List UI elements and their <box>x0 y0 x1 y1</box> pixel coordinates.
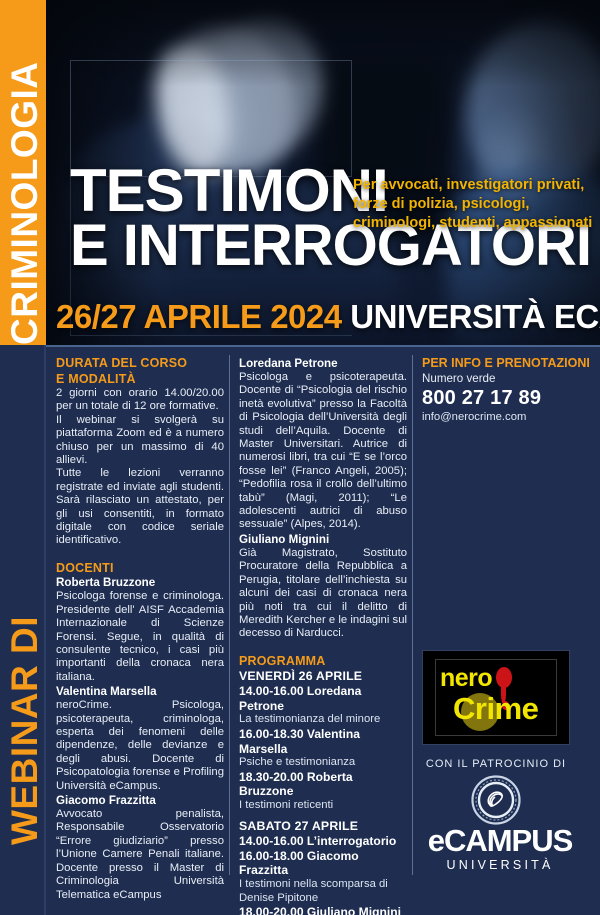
slot-4-title: 14.00-16.00 L’interrogatorio <box>239 834 407 849</box>
heading-info-prenotazioni: PER INFO E PRENOTAZIONI <box>422 356 592 371</box>
slot-1-title: 14.00-16.00 Loredana Petrone <box>239 684 407 713</box>
day-label-venerdi: VENERDÌ 26 APRILE <box>239 669 407 684</box>
docente-bio-petrone: Psicologa e psicoterapeuta. Docente di “… <box>239 371 407 532</box>
docente-bio-bruzzone: Psicologa forense e criminologa. Preside… <box>56 590 224 684</box>
band-label-criminologia: CRIMINOLOGIA <box>3 62 47 345</box>
left-vertical-band: CRIMINOLOGIA WEBINAR DI <box>0 0 46 915</box>
band-text-wrapper: CRIMINOLOGIA WEBINAR DI <box>0 0 46 915</box>
patrocinio-label: CON IL PATROCINIO DI <box>422 758 570 770</box>
phone-number[interactable]: 800 27 17 89 <box>422 386 592 410</box>
durata-paragraph-3: Tutte le lezioni verranno registrate ed … <box>56 467 224 547</box>
nerocrime-logo: nero Crime <box>422 650 570 745</box>
slot-3-topic: I testimoni reticenti <box>239 799 407 813</box>
ecampus-logo: eCAMPUS UNIVERSITÀ <box>420 825 580 873</box>
audience-line-2: forze di polizia, psicologi, <box>353 195 592 214</box>
slot-3-title: 18.30-20.00 Roberta Bruzzone <box>239 770 407 799</box>
spacer-3 <box>239 812 407 819</box>
audience-list: Per avvocati, investigatori privati, for… <box>353 176 592 233</box>
band-divider <box>44 345 46 915</box>
docente-name-petrone: Loredana Petrone <box>239 357 407 371</box>
poster-root: CRIMINOLOGIA WEBINAR DI TESTIMONI E INTE… <box>0 0 600 915</box>
body-columns: DURATA DEL CORSO E MODALITÀ 2 giorni con… <box>46 347 600 915</box>
docente-name-frazzitta: Giacomo Frazzitta <box>56 794 224 808</box>
slot-2-topic: Psiche e testimonianza <box>239 756 407 770</box>
docente-bio-marsella: neroCrime. Psicologa, psicoterapeuta, cr… <box>56 699 224 793</box>
slot-2-title: 16.00-18.30 Valentina Marsella <box>239 727 407 756</box>
hero-bottom-rule <box>46 345 600 347</box>
date-venue-bar: 26/27 APRILE 2024 UNIVERSITÀ ECAMPUS <box>56 300 600 333</box>
docente-name-mignini: Giuliano Mignini <box>239 533 407 547</box>
slot-5-topic: I testimoni nella scomparsa di Denise Pi… <box>239 878 407 905</box>
ecampus-subtitle: UNIVERSITÀ <box>420 857 580 873</box>
column-contact-logos: PER INFO E PRENOTAZIONI Numero verde 800… <box>422 356 592 425</box>
label-numero-verde: Numero verde <box>422 371 592 386</box>
event-date: 26/27 APRILE 2024 <box>56 298 342 335</box>
docente-name-marsella: Valentina Marsella <box>56 685 224 699</box>
heading-programma: PROGRAMMA <box>239 654 407 669</box>
programma-day-sabato: SABATO 27 APRILE 14.00-16.00 L’interroga… <box>239 819 407 915</box>
programma-day-venerdi: VENERDÌ 26 APRILE 14.00-16.00 Loredana P… <box>239 669 407 812</box>
column-docenti-programma: Loredana Petrone Psicologa e psicoterape… <box>239 356 407 915</box>
column-course-info: DURATA DEL CORSO E MODALITÀ 2 giorni con… <box>56 356 224 902</box>
durata-paragraph-2: Il webinar si svolgerà su piattaforma Zo… <box>56 414 224 468</box>
audience-line-3: criminologi, studenti, appassionati <box>353 214 592 233</box>
spacer-2 <box>239 641 407 654</box>
email-address[interactable]: info@nerocrime.com <box>422 410 592 425</box>
heading-durata-line1: DURATA DEL CORSO <box>56 356 224 371</box>
docente-bio-mignini: Già Magistrato, Sostituto Procuratore de… <box>239 547 407 641</box>
ecampus-wordmark: eCAMPUS <box>420 825 580 857</box>
audience-line-1: Per avvocati, investigatori privati, <box>353 176 592 195</box>
column-divider-2 <box>412 355 413 875</box>
slot-1-topic: La testimonianza del minore <box>239 713 407 727</box>
day-label-sabato: SABATO 27 APRILE <box>239 819 407 834</box>
durata-paragraph-1: 2 giorni con orario 14.00/20.00 per un t… <box>56 387 224 414</box>
heading-durata-line2: E MODALITÀ <box>56 372 224 387</box>
event-venue: UNIVERSITÀ ECAMPUS <box>350 298 600 335</box>
nerocrime-word-crime: Crime <box>453 693 538 725</box>
docente-name-bruzzone: Roberta Bruzzone <box>56 576 224 590</box>
band-label-webinar-di: WEBINAR DI <box>3 616 47 845</box>
column-divider-1 <box>229 355 230 875</box>
docente-bio-frazzitta: Avvocato penalista, Responsabile Osserva… <box>56 808 224 902</box>
spacer-1 <box>56 548 224 561</box>
nerocrime-word-nero: nero <box>440 665 492 691</box>
ecampus-seal-icon <box>471 775 521 825</box>
slot-6-title: 18.00-20.00 Giuliano Mignini <box>239 905 407 915</box>
heading-docenti: DOCENTI <box>56 561 224 576</box>
slot-5-title: 16.00-18.00 Giacomo Frazzitta <box>239 849 407 878</box>
